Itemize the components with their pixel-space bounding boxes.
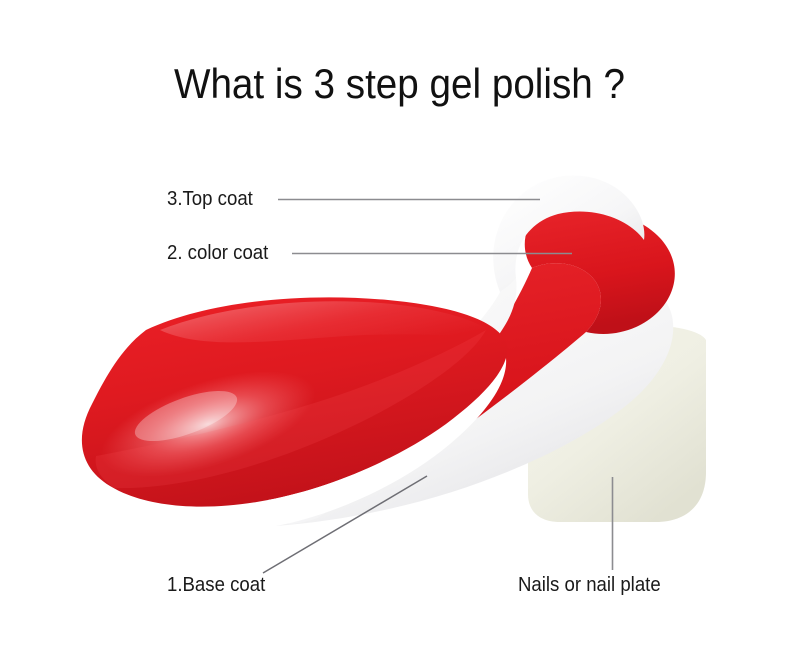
label-top-coat: 3.Top coat — [167, 188, 253, 211]
label-base-coat: 1.Base coat — [167, 574, 265, 597]
label-color-coat: 2. color coat — [167, 242, 268, 265]
label-nail-plate: Nails or nail plate — [518, 574, 661, 597]
diagram-page: What is 3 step gel polish ? — [0, 0, 799, 655]
nail-cross-section-illustration — [0, 0, 799, 655]
